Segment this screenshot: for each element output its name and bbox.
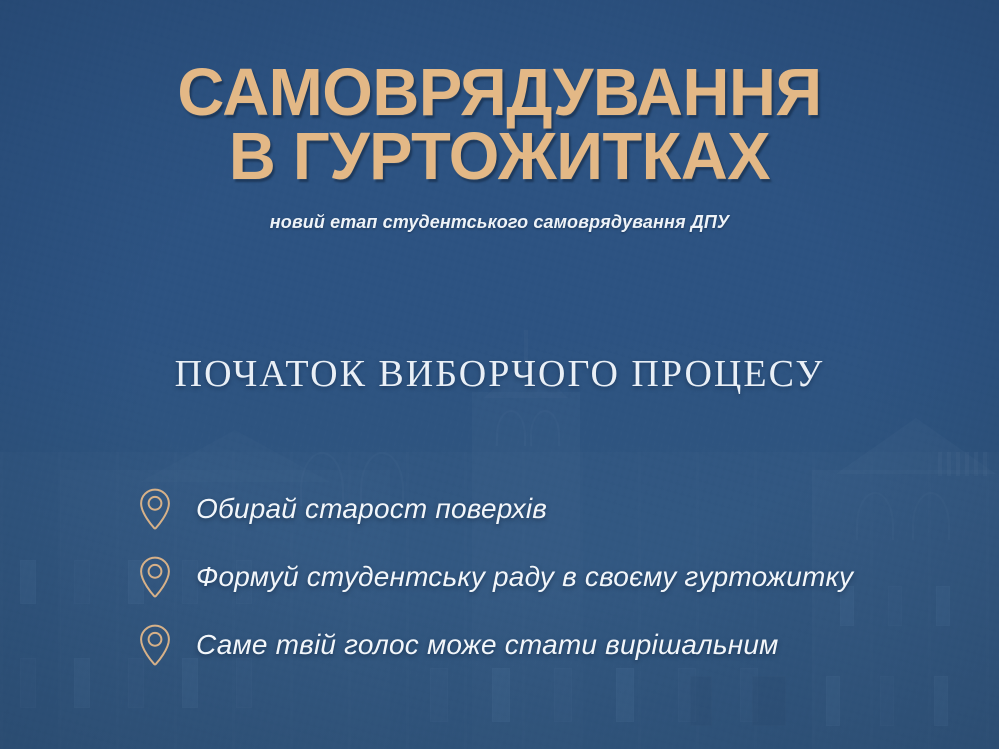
- list-item-label: Формуй студентську раду в своєму гуртожи…: [196, 561, 853, 593]
- list-item: Формуй студентську раду в своєму гуртожи…: [138, 546, 958, 608]
- list-item-label: Обирай старост поверхів: [196, 493, 547, 525]
- map-pin-icon: [138, 487, 172, 531]
- map-pin-icon: [138, 555, 172, 599]
- list-item: Саме твій голос може стати вирішальним: [138, 614, 958, 676]
- poster-title: САМОВРЯДУВАННЯ В ГУРТОЖИТКАХ: [0, 62, 999, 187]
- poster-slide: САМОВРЯДУВАННЯ В ГУРТОЖИТКАХ новий етап …: [0, 0, 999, 749]
- list-item: Обирай старост поверхів: [138, 478, 958, 540]
- section-heading: ПОЧАТОК ВИБОРЧОГО ПРОЦЕСУ: [0, 352, 999, 396]
- bullet-list: Обирай старост поверхів Формуй студентсь…: [138, 478, 958, 682]
- title-line-1: САМОВРЯДУВАННЯ: [15, 62, 984, 124]
- list-item-label: Саме твій голос може стати вирішальним: [196, 629, 779, 661]
- title-line-2: В ГУРТОЖИТКАХ: [15, 126, 984, 188]
- map-pin-icon: [138, 623, 172, 667]
- poster-content: САМОВРЯДУВАННЯ В ГУРТОЖИТКАХ новий етап …: [0, 0, 999, 749]
- poster-subtitle: новий етап студентського самоврядування …: [0, 212, 999, 233]
